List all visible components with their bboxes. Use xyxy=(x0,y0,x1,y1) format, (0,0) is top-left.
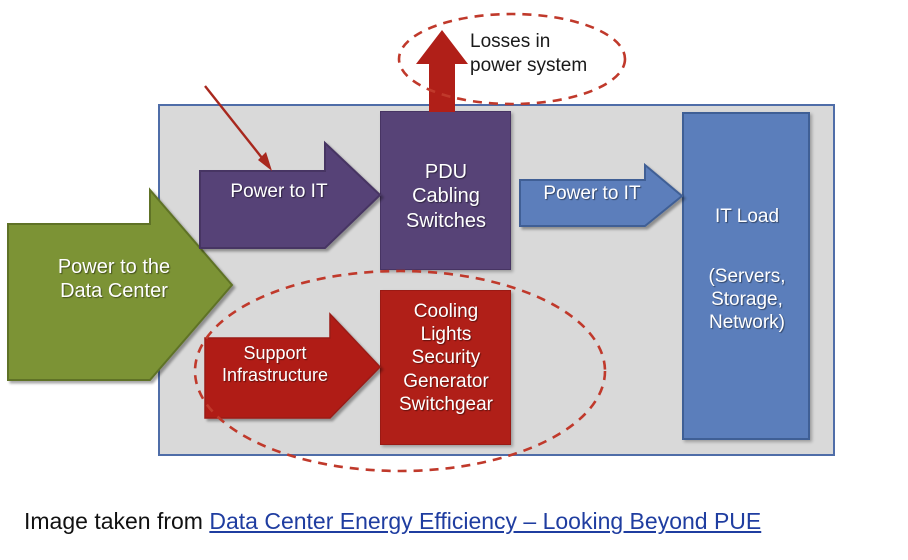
pdu-block-label: PDU Cabling Switches xyxy=(382,160,510,233)
power-to-it-upper-label: Power to IT xyxy=(204,180,354,203)
losses-in-power-system-label: Losses in power system xyxy=(470,30,620,79)
power-to-data-center-label: Power to the Data Center xyxy=(14,255,214,304)
power-to-it-right-label: Power to IT xyxy=(527,182,657,205)
caption: Image taken from Data Center Energy Effi… xyxy=(24,508,761,535)
diagram-canvas: Power to the Data Center Power to IT PDU… xyxy=(0,0,908,560)
caption-source-link[interactable]: Data Center Energy Efficiency – Looking … xyxy=(209,508,761,534)
support-systems-label: Cooling Lights Security Generator Switch… xyxy=(382,300,510,416)
it-load-sublabel: (Servers, Storage, Network) xyxy=(684,265,810,335)
it-load-title-label: IT Load xyxy=(684,205,810,228)
support-infrastructure-label: Support Infrastructure xyxy=(205,343,345,387)
caption-prefix: Image taken from xyxy=(24,508,209,534)
